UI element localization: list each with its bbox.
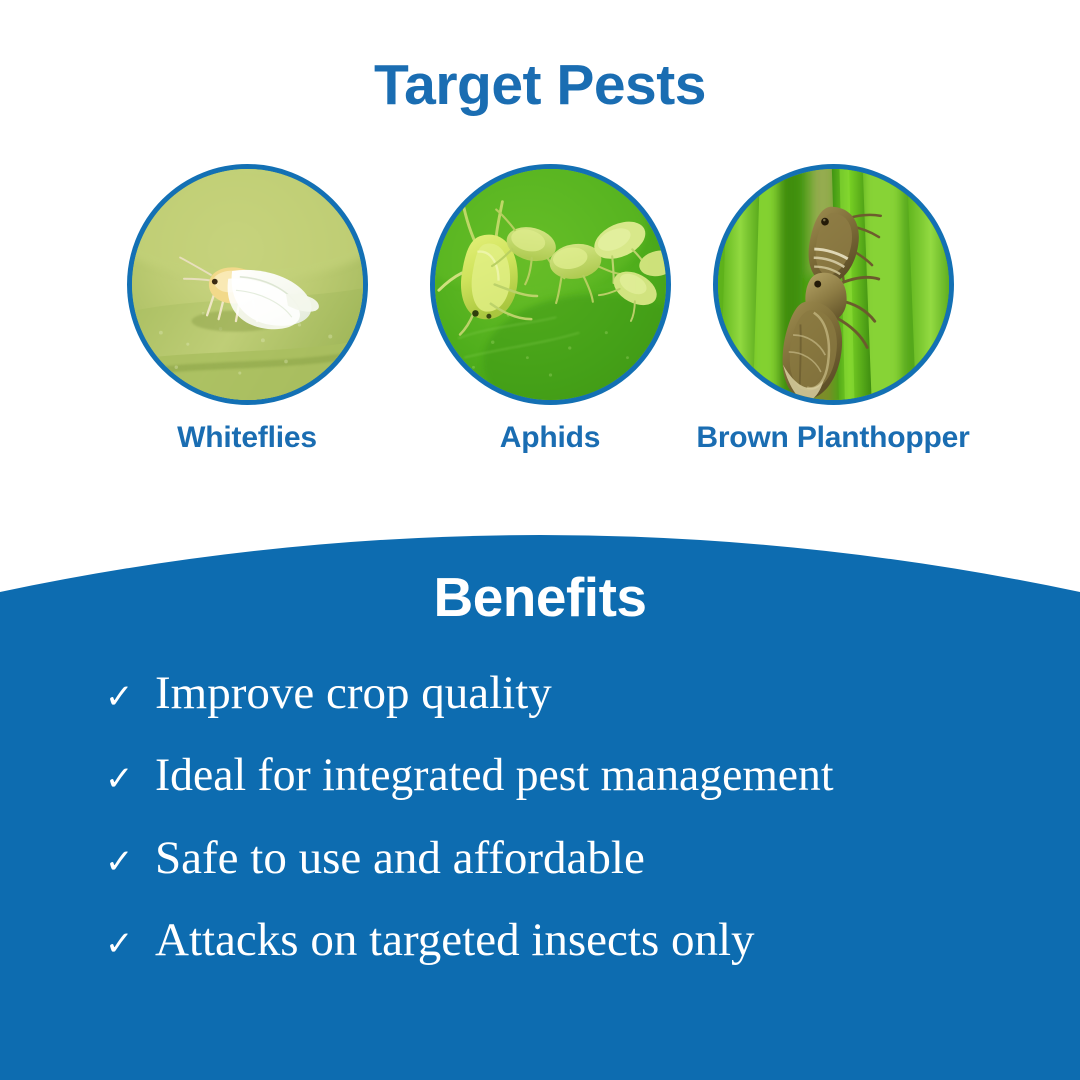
pest-image-circle [713,164,954,405]
check-icon: ✓ [105,762,155,796]
pest-card-brown-planthopper[interactable]: Brown Planthopper [688,164,978,457]
pest-label: Aphids [405,420,695,457]
pest-image-circle [430,164,671,405]
check-icon: ✓ [105,845,155,879]
benefit-text: Ideal for integrated pest management [155,751,833,800]
benefits-list: ✓ Improve crop quality ✓ Ideal for integ… [0,669,1080,965]
pest-card-row: Whiteflies [0,164,1080,514]
pest-card-whiteflies[interactable]: Whiteflies [102,164,392,457]
benefit-item: ✓ Improve crop quality [0,669,1080,718]
pest-label: Brown Planthopper [688,420,978,457]
benefit-text: Attacks on targeted insects only [155,916,755,965]
check-icon: ✓ [105,927,155,961]
page-title: Target Pests [0,52,1080,118]
benefits-title: Benefits [0,565,1080,629]
whitefly-photo [132,169,363,400]
benefits-content: Benefits ✓ Improve crop quality ✓ Ideal … [0,565,1080,998]
benefit-item: ✓ Safe to use and affordable [0,834,1080,883]
aphid-photo [435,169,666,400]
benefit-item: ✓ Attacks on targeted insects only [0,916,1080,965]
benefit-item: ✓ Ideal for integrated pest management [0,751,1080,800]
benefit-text: Safe to use and affordable [155,834,645,883]
check-icon: ✓ [105,680,155,714]
pest-card-aphids[interactable]: Aphids [405,164,695,457]
target-pests-section: Target Pests [0,0,1080,600]
pest-label: Whiteflies [102,420,392,457]
pest-image-circle [127,164,368,405]
benefit-text: Improve crop quality [155,669,552,718]
brown-planthopper-photo [718,169,949,400]
